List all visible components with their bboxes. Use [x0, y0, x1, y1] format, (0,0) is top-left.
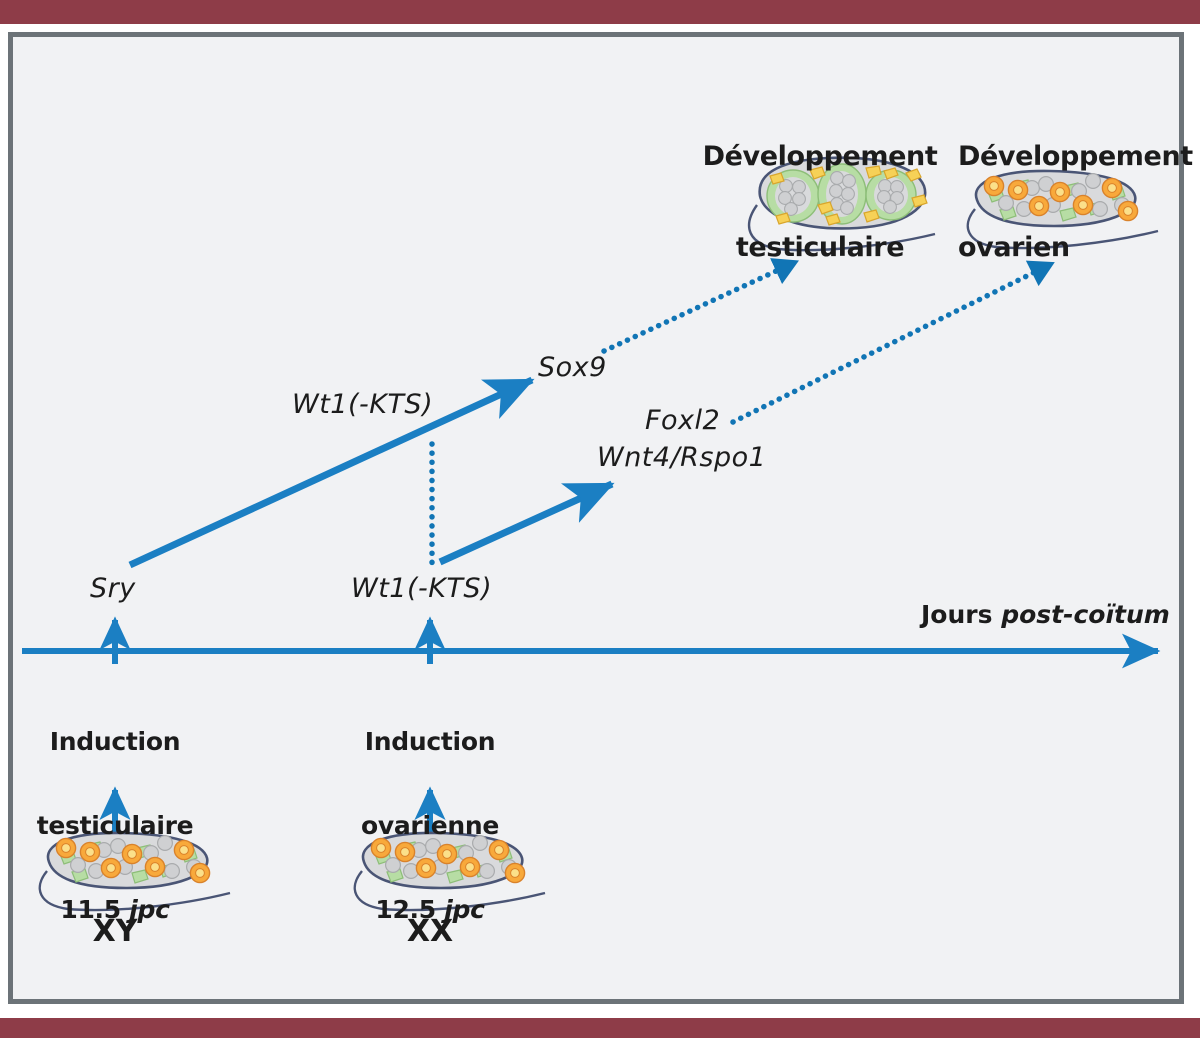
gene-label-sox9: Sox9 [538, 353, 607, 383]
karyotype-label-xx: XX [315, 915, 545, 949]
event-line2: ovarienne [315, 812, 545, 840]
testicular-development-line1: Développement [700, 142, 940, 172]
axis-title-italic: post-coïtum [1001, 600, 1170, 629]
gene-label-sry: Sry [90, 574, 136, 604]
karyotype-label-xy: XY [0, 915, 230, 949]
testicular-development-line2: testiculaire [700, 233, 940, 263]
testicular-development-heading: Développement testiculaire [700, 82, 940, 294]
event-line1: Induction [0, 728, 230, 756]
axis-title: Jours post-coïtum [921, 601, 1170, 629]
gene-label-wt1-bottom: Wt1(-KTS) [351, 574, 492, 604]
arrow-wt1-to-wnt4 [440, 484, 612, 562]
ovarian-development-line2: ovarien [958, 233, 1198, 263]
timeline-event-ovarian-induction: Induction ovarienne 12.5 jpc [315, 672, 545, 952]
timeline-event-testicular-induction: Induction testiculaire 11.5 jpc [0, 672, 230, 952]
axis-title-plain: Jours [921, 600, 1001, 629]
gene-label-foxl2: Foxl2 [645, 406, 720, 436]
event-line2: testiculaire [0, 812, 230, 840]
ovarian-development-heading: Développement ovarien [958, 82, 1198, 294]
gene-label-wt1-top: Wt1(-KTS) [292, 390, 433, 420]
event-line1: Induction [315, 728, 545, 756]
gene-label-wnt4-rspo1: Wnt4/Rspo1 [597, 443, 766, 473]
ovarian-development-line1: Développement [958, 142, 1198, 172]
